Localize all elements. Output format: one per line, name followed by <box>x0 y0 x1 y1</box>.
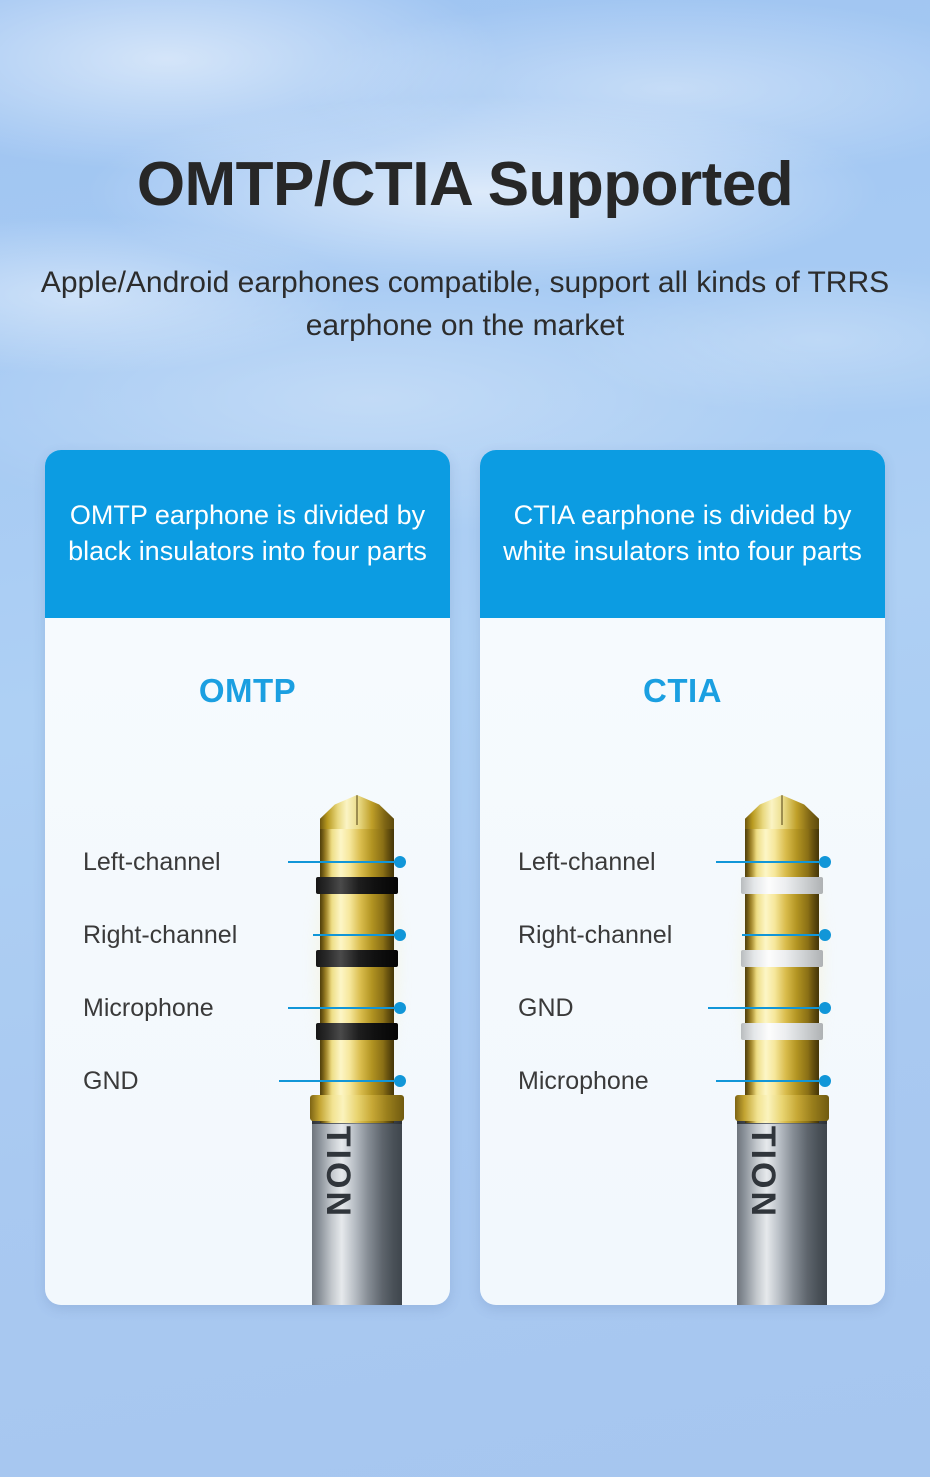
leader-dot <box>394 1002 406 1014</box>
omtp-callout-gnd: GND <box>83 1065 139 1097</box>
omtp-callout-group: Left-channel Right-channel Microphone GN… <box>45 450 450 1305</box>
leader-line <box>716 861 825 863</box>
omtp-callout-label: Right-channel <box>83 921 237 950</box>
omtp-callout-label: GND <box>83 1067 139 1096</box>
ctia-callout-gnd: GND <box>518 992 574 1024</box>
leader-line <box>313 934 400 936</box>
page-subtitle: Apple/Android earphones compatible, supp… <box>25 262 905 347</box>
leader-dot <box>394 856 406 868</box>
omtp-callout-label: Microphone <box>83 994 214 1023</box>
ctia-callout-microphone: Microphone <box>518 1065 649 1097</box>
ctia-callout-right-channel: Right-channel <box>518 919 672 951</box>
omtp-callout-label: Left-channel <box>83 848 221 877</box>
omtp-callout-left-channel: Left-channel <box>83 846 221 878</box>
leader-dot <box>819 929 831 941</box>
ctia-callout-label: Right-channel <box>518 921 672 950</box>
leader-dot <box>394 929 406 941</box>
ctia-callout-group: Left-channel Right-channel GND Microphon… <box>480 450 885 1305</box>
card-omtp: OMTP earphone is divided by black insula… <box>45 450 450 1305</box>
leader-dot <box>394 1075 406 1087</box>
leader-line <box>708 1007 825 1009</box>
leader-line <box>742 934 825 936</box>
leader-line <box>716 1080 825 1082</box>
leader-dot <box>819 1002 831 1014</box>
leader-line <box>288 861 400 863</box>
ctia-callout-label: Microphone <box>518 1067 649 1096</box>
leader-line <box>279 1080 400 1082</box>
omtp-callout-microphone: Microphone <box>83 992 214 1024</box>
omtp-callout-right-channel: Right-channel <box>83 919 237 951</box>
leader-dot <box>819 856 831 868</box>
card-ctia: CTIA earphone is divided by white insula… <box>480 450 885 1305</box>
ctia-callout-label: Left-channel <box>518 848 656 877</box>
page-title: OMTP/CTIA Supported <box>0 152 930 219</box>
leader-dot <box>819 1075 831 1087</box>
leader-line <box>288 1007 400 1009</box>
ctia-callout-label: GND <box>518 994 574 1023</box>
ctia-callout-left-channel: Left-channel <box>518 846 656 878</box>
